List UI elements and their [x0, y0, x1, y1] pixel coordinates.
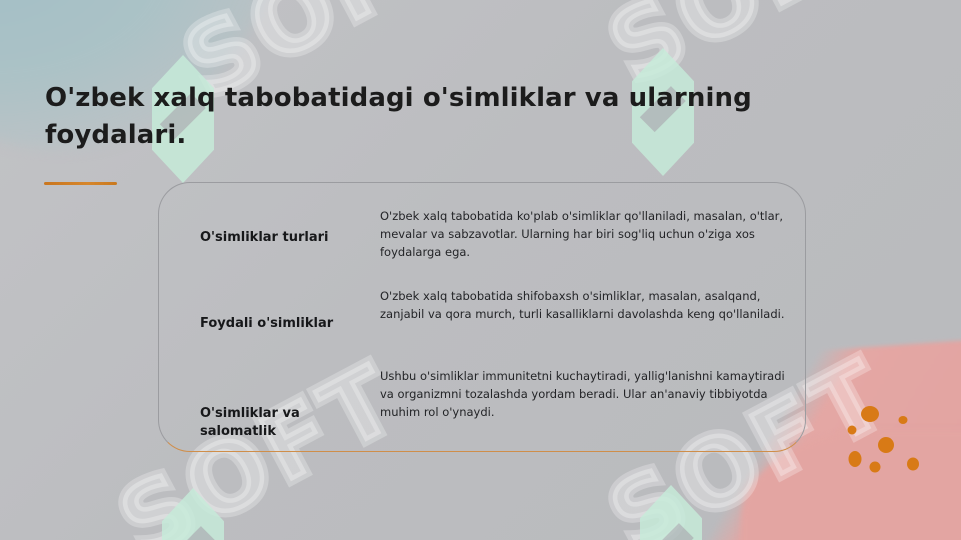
content-row: O'simliklar turlari O'zbek xalq tabobati…	[200, 203, 785, 261]
content-row-body: Ushbu o'simliklar immunitetni kuchaytira…	[380, 363, 785, 421]
watermark-logo-diamond	[162, 488, 224, 540]
content-row: O'simliklar va salomatlik Ushbu o'simlik…	[200, 363, 785, 441]
content-row-body: O'zbek xalq tabobatida ko'plab o'simlikl…	[380, 203, 785, 261]
content-row-label: O'simliklar va salomatlik	[200, 363, 380, 441]
title-accent-rule	[44, 182, 117, 185]
content-row: Foydali o'simliklar O'zbek xalq tabobati…	[200, 283, 785, 333]
slide-canvas: SOFT SOFT SOFT SOFT O'zbek xalq tabobati…	[0, 0, 961, 540]
content-row-label: O'simliklar turlari	[200, 203, 380, 247]
content-row-label: Foydali o'simliklar	[200, 283, 380, 333]
content-row-body: O'zbek xalq tabobatida shifobaxsh o'siml…	[380, 283, 785, 323]
page-title: O'zbek xalq tabobatidagi o'simliklar va …	[45, 80, 805, 154]
content-card: O'simliklar turlari O'zbek xalq tabobati…	[158, 182, 806, 452]
content-card-inner: O'simliklar turlari O'zbek xalq tabobati…	[159, 183, 805, 451]
